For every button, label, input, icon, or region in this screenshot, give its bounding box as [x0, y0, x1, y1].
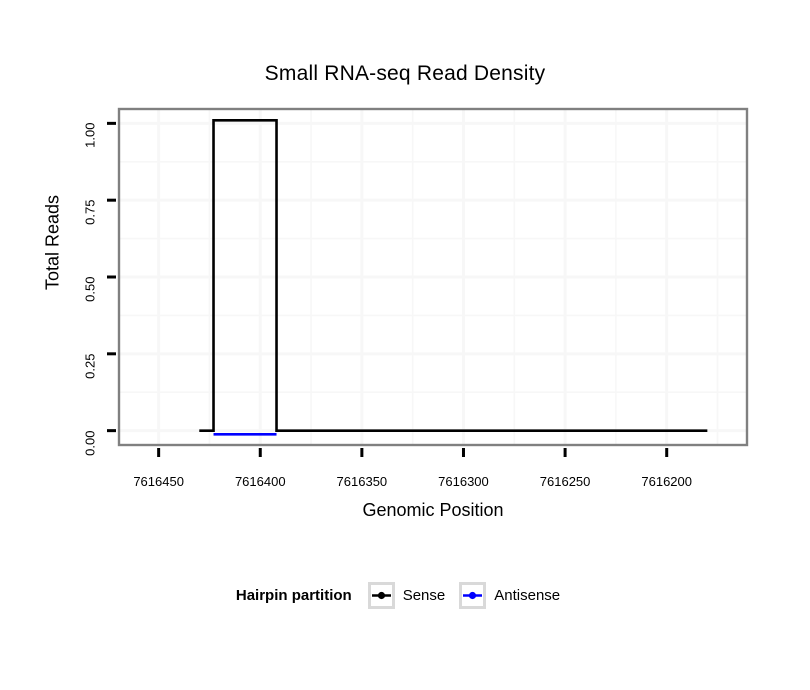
- y-tick-label: 0.25: [83, 353, 98, 399]
- legend-label: Antisense: [494, 587, 560, 604]
- y-tick-label: 0.50: [83, 277, 98, 323]
- x-axis-title: Genomic Position: [118, 500, 748, 521]
- legend-label: Sense: [403, 587, 446, 604]
- chart-legend: Hairpin partition SenseAntisense: [0, 582, 810, 609]
- legend-key-icon: [368, 582, 395, 609]
- legend-key-icon: [459, 582, 486, 609]
- legend-items: SenseAntisense: [368, 582, 574, 609]
- x-tick-label: 7616300: [418, 474, 508, 489]
- x-tick-label: 7616350: [317, 474, 407, 489]
- legend-item-sense[interactable]: Sense: [368, 582, 446, 609]
- x-tick-label: 7616450: [114, 474, 204, 489]
- y-tick-label: 0.75: [83, 200, 98, 246]
- x-tick-label: 7616250: [520, 474, 610, 489]
- x-tick-label: 7616400: [215, 474, 305, 489]
- y-tick-label: 1.00: [83, 123, 98, 169]
- chart-container: Small RNA-seq Read Density Total Reads G…: [0, 0, 810, 690]
- legend-item-antisense[interactable]: Antisense: [459, 582, 560, 609]
- x-tick-label: 7616200: [622, 474, 712, 489]
- y-tick-label: 0.00: [83, 430, 98, 476]
- legend-title: Hairpin partition: [236, 587, 352, 604]
- plot-area: [0, 0, 810, 500]
